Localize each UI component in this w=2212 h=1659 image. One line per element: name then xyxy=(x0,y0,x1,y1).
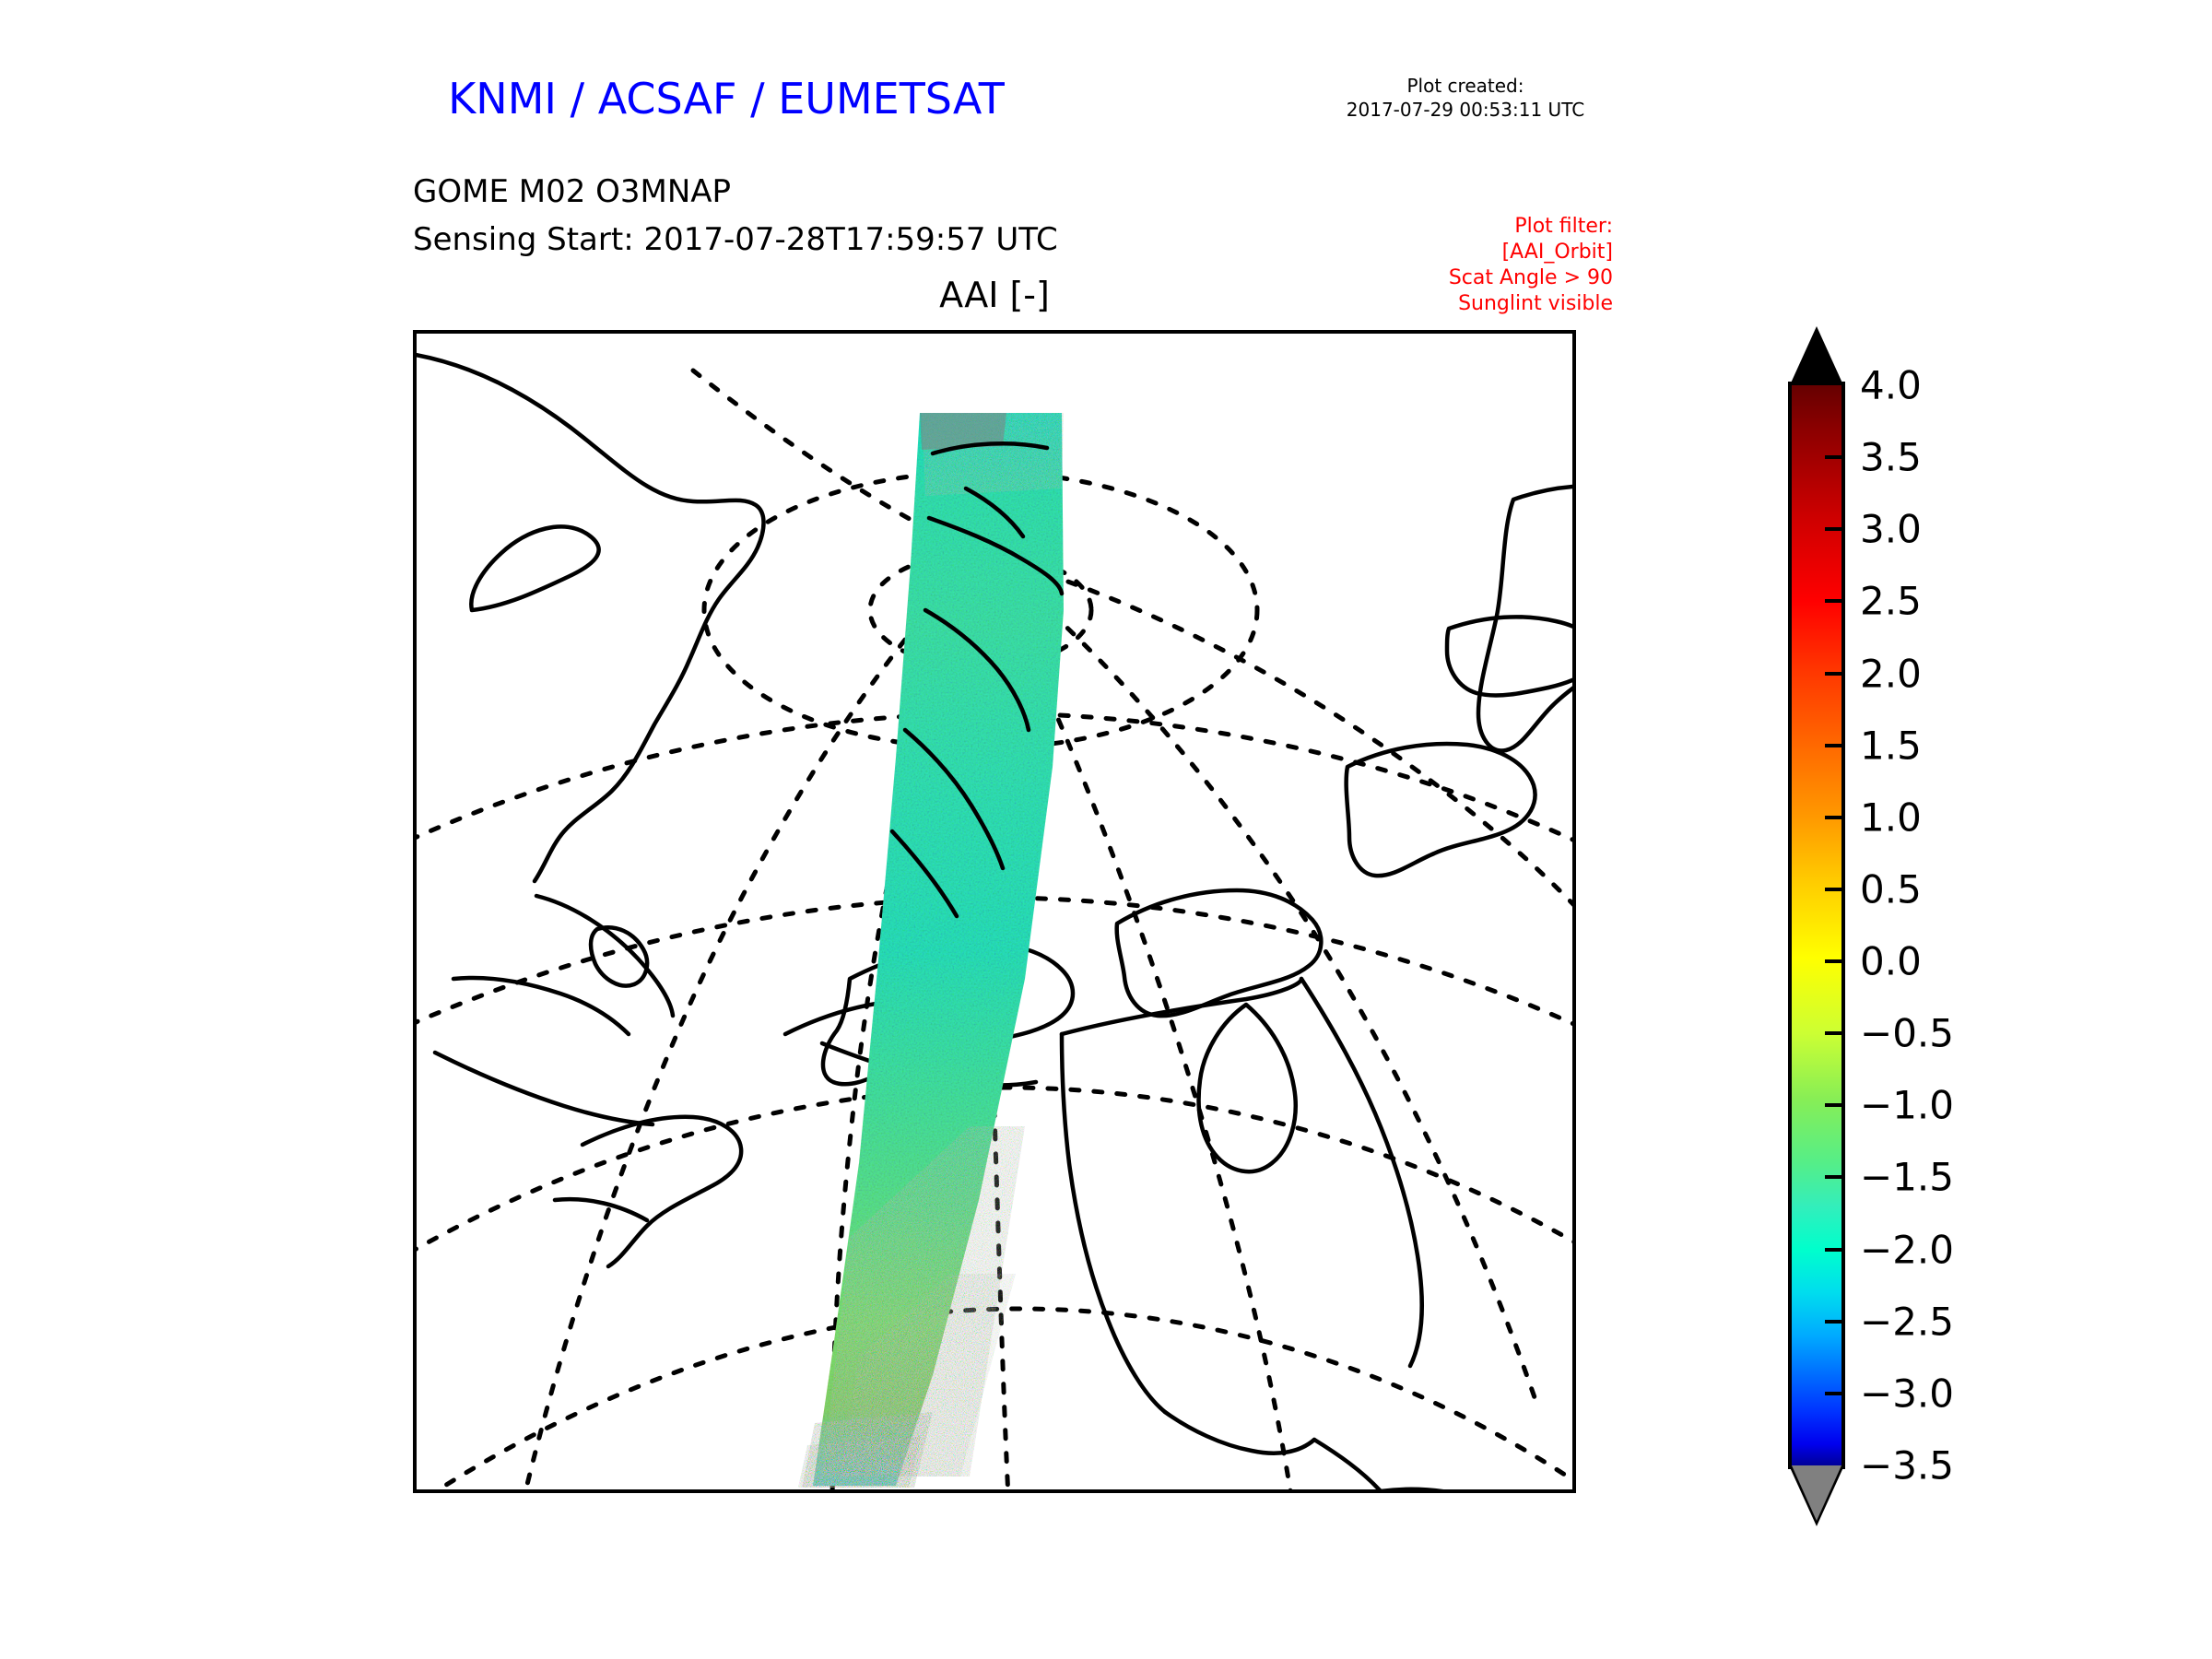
colorbar-tick xyxy=(1825,1320,1845,1324)
chart-title: AAI [-] xyxy=(413,275,1576,315)
colorbar-tick-label: −2.5 xyxy=(1860,1299,1954,1344)
product-name: GOME M02 O3MNAP xyxy=(413,173,731,210)
map-panel[interactable] xyxy=(413,330,1576,1493)
colorbar-tick xyxy=(1825,744,1845,747)
satellite-swath xyxy=(798,413,1064,1488)
colorbar-tick-label: −3.5 xyxy=(1860,1443,1954,1488)
colorbar-over-arrow-outline xyxy=(1789,326,1844,387)
colorbar-tick-label: 3.0 xyxy=(1860,507,1922,552)
colorbar-tick xyxy=(1825,1248,1845,1252)
plot-filter-name: [AAI_Orbit] xyxy=(1336,240,1613,265)
colorbar-tick xyxy=(1825,1103,1845,1107)
colorbar-tick-label: −1.5 xyxy=(1860,1155,1954,1200)
colorbar-tick xyxy=(1825,888,1845,891)
colorbar-tick xyxy=(1825,959,1845,963)
colorbar-tick xyxy=(1825,1031,1845,1035)
colorbar-tick-label: 0.0 xyxy=(1860,939,1922,984)
plot-created-value: 2017-07-29 00:53:11 UTC xyxy=(1309,98,1622,122)
colorbar-tick-label: −3.0 xyxy=(1860,1371,1954,1416)
colorbar-tick xyxy=(1825,1175,1845,1179)
colorbar[interactable]: 4.03.53.02.52.01.51.00.50.0−0.5−1.0−1.5−… xyxy=(1792,330,2179,1528)
colorbar-tick-label: 0.5 xyxy=(1860,866,1922,912)
colorbar-tick-label: −0.5 xyxy=(1860,1011,1954,1056)
colorbar-tick xyxy=(1825,527,1845,531)
colorbar-tick-label: 2.5 xyxy=(1860,579,1922,624)
colorbar-tick xyxy=(1825,455,1845,459)
colorbar-tick-label: −1.0 xyxy=(1860,1083,1954,1128)
colorbar-gradient[interactable] xyxy=(1792,385,1841,1465)
colorbar-tick-label: 4.0 xyxy=(1860,363,1922,408)
colorbar-tick xyxy=(1825,816,1845,819)
colorbar-tick-label: 1.5 xyxy=(1860,723,1922,768)
map-canvas xyxy=(417,334,1572,1489)
page-title: KNMI / ACSAF / EUMETSAT xyxy=(413,74,1040,124)
colorbar-tick-label: 2.0 xyxy=(1860,651,1922,696)
colorbar-tick xyxy=(1825,1392,1845,1395)
plot-created-label: Plot created: xyxy=(1309,74,1622,98)
colorbar-tick-label: −2.0 xyxy=(1860,1227,1954,1272)
colorbar-tick xyxy=(1825,599,1845,603)
plot-created-block: Plot created: 2017-07-29 00:53:11 UTC xyxy=(1309,74,1622,122)
colorbar-tick-label: 1.0 xyxy=(1860,794,1922,840)
plot-filter-label: Plot filter: xyxy=(1336,214,1613,240)
colorbar-under-arrow xyxy=(1792,1465,1841,1521)
sensing-start: Sensing Start: 2017-07-28T17:59:57 UTC xyxy=(413,221,1058,258)
colorbar-tick-label: 3.5 xyxy=(1860,435,1922,480)
colorbar-tick xyxy=(1825,672,1845,676)
